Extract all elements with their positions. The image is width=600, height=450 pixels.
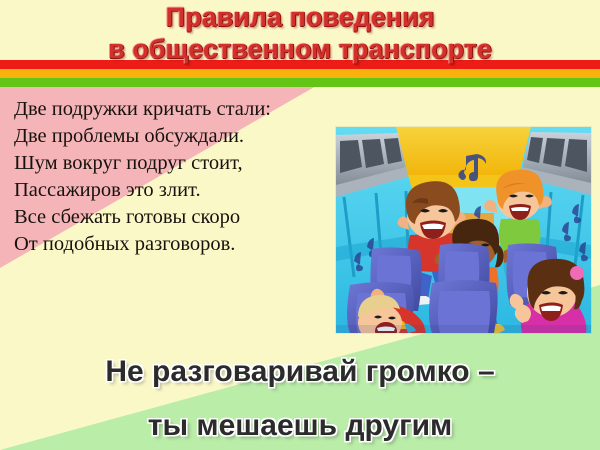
bus-illustration	[336, 127, 591, 333]
poster-slogan: Не разговаривай громко – ты мешаешь друг…	[0, 332, 600, 450]
slogan-line-1: Не разговаривай громко –	[0, 332, 600, 398]
poem-line: Две проблемы обсуждали.	[14, 123, 334, 150]
poster-root: Правила поведения в общественном транспо…	[0, 0, 600, 450]
bus-interior-scene	[336, 127, 591, 333]
poster-title: Правила поведения в общественном транспо…	[0, 2, 600, 64]
poem-line: От подобных разговоров.	[14, 231, 334, 258]
title-line-1: Правила поведения	[0, 2, 600, 32]
orange-stripe	[0, 69, 600, 78]
poem-line: Шум вокруг подруг стоит,	[14, 150, 334, 177]
poem-line: Все сбежать готовы скоро	[14, 204, 334, 231]
poem-block: Две подружки кричать стали: Две проблемы…	[14, 96, 334, 258]
slogan-line-2: ты мешаешь другим	[0, 398, 600, 450]
title-line-2: в общественном транспорте	[0, 34, 600, 64]
poem-line: Пассажиров это злит.	[14, 177, 334, 204]
green-stripe	[0, 78, 600, 87]
poem-line: Две подружки кричать стали:	[14, 96, 334, 123]
